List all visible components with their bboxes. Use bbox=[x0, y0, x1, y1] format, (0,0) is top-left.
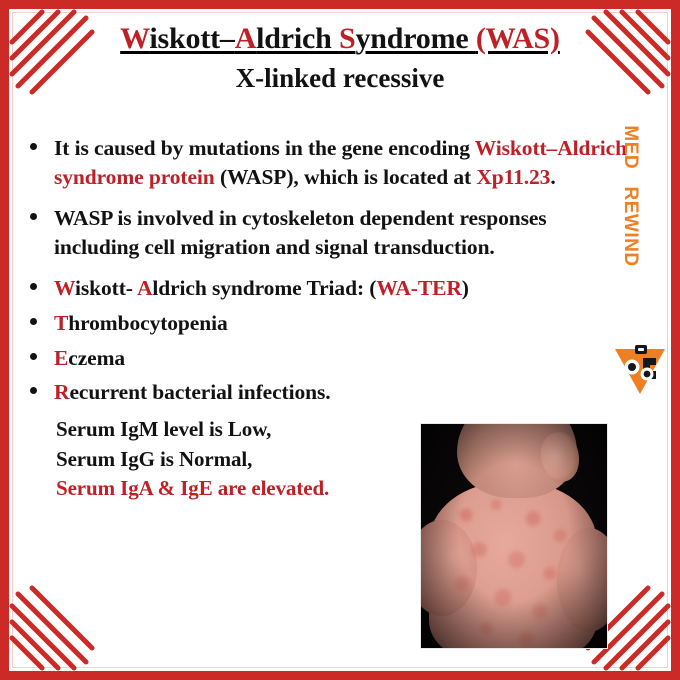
hatched-corner-ornament-bottom-left bbox=[4, 572, 108, 676]
list-item: Wiskott- Aldrich syndrome Triad: (WA-TER… bbox=[30, 274, 634, 303]
infographic-poster: Wiskott–Aldrich Syndrome (WAS) X-linked … bbox=[0, 0, 680, 680]
bullet-dot-icon bbox=[30, 378, 54, 394]
list-item: Recurrent bacterial infections. bbox=[30, 378, 634, 407]
page-subtitle: X-linked recessive bbox=[0, 62, 680, 94]
bullet-eczema: Eczema bbox=[54, 344, 454, 373]
list-item: Eczema bbox=[30, 344, 634, 373]
content-list: It is caused by mutations in the gene en… bbox=[30, 134, 634, 504]
bullet-wasp-function: WASP is involved in cytoskeleton depende… bbox=[54, 204, 634, 261]
bullet-dot-icon bbox=[30, 134, 54, 150]
bullet-thrombocytopenia: Thrombocytopenia bbox=[54, 309, 454, 338]
bullet-genetics: It is caused by mutations in the gene en… bbox=[54, 134, 634, 191]
list-item: Thrombocytopenia bbox=[30, 309, 634, 338]
page-title: Wiskott–Aldrich Syndrome (WAS) bbox=[0, 22, 680, 57]
list-item: It is caused by mutations in the gene en… bbox=[30, 134, 634, 191]
poster-heading: Wiskott–Aldrich Syndrome (WAS) X-linked … bbox=[0, 22, 680, 94]
bullet-dot-icon bbox=[30, 344, 54, 360]
serum-igm: Serum IgM level is Low, bbox=[30, 415, 456, 445]
list-item: WASP is involved in cytoskeleton depende… bbox=[30, 204, 634, 261]
serum-igg: Serum IgG is Normal, bbox=[30, 445, 456, 475]
serum-iga-ige: Serum IgA & IgE are elevated. bbox=[30, 474, 456, 504]
bullet-dot-icon bbox=[30, 309, 54, 325]
page-title-rich: Wiskott–Aldrich Syndrome (WAS) bbox=[120, 22, 560, 55]
bullet-dot-icon bbox=[30, 204, 54, 220]
bullet-infections: Recurrent bacterial infections. bbox=[54, 378, 454, 407]
bullet-dot-icon bbox=[30, 274, 54, 290]
bullet-triad: Wiskott- Aldrich syndrome Triad: (WA-TER… bbox=[54, 274, 634, 303]
